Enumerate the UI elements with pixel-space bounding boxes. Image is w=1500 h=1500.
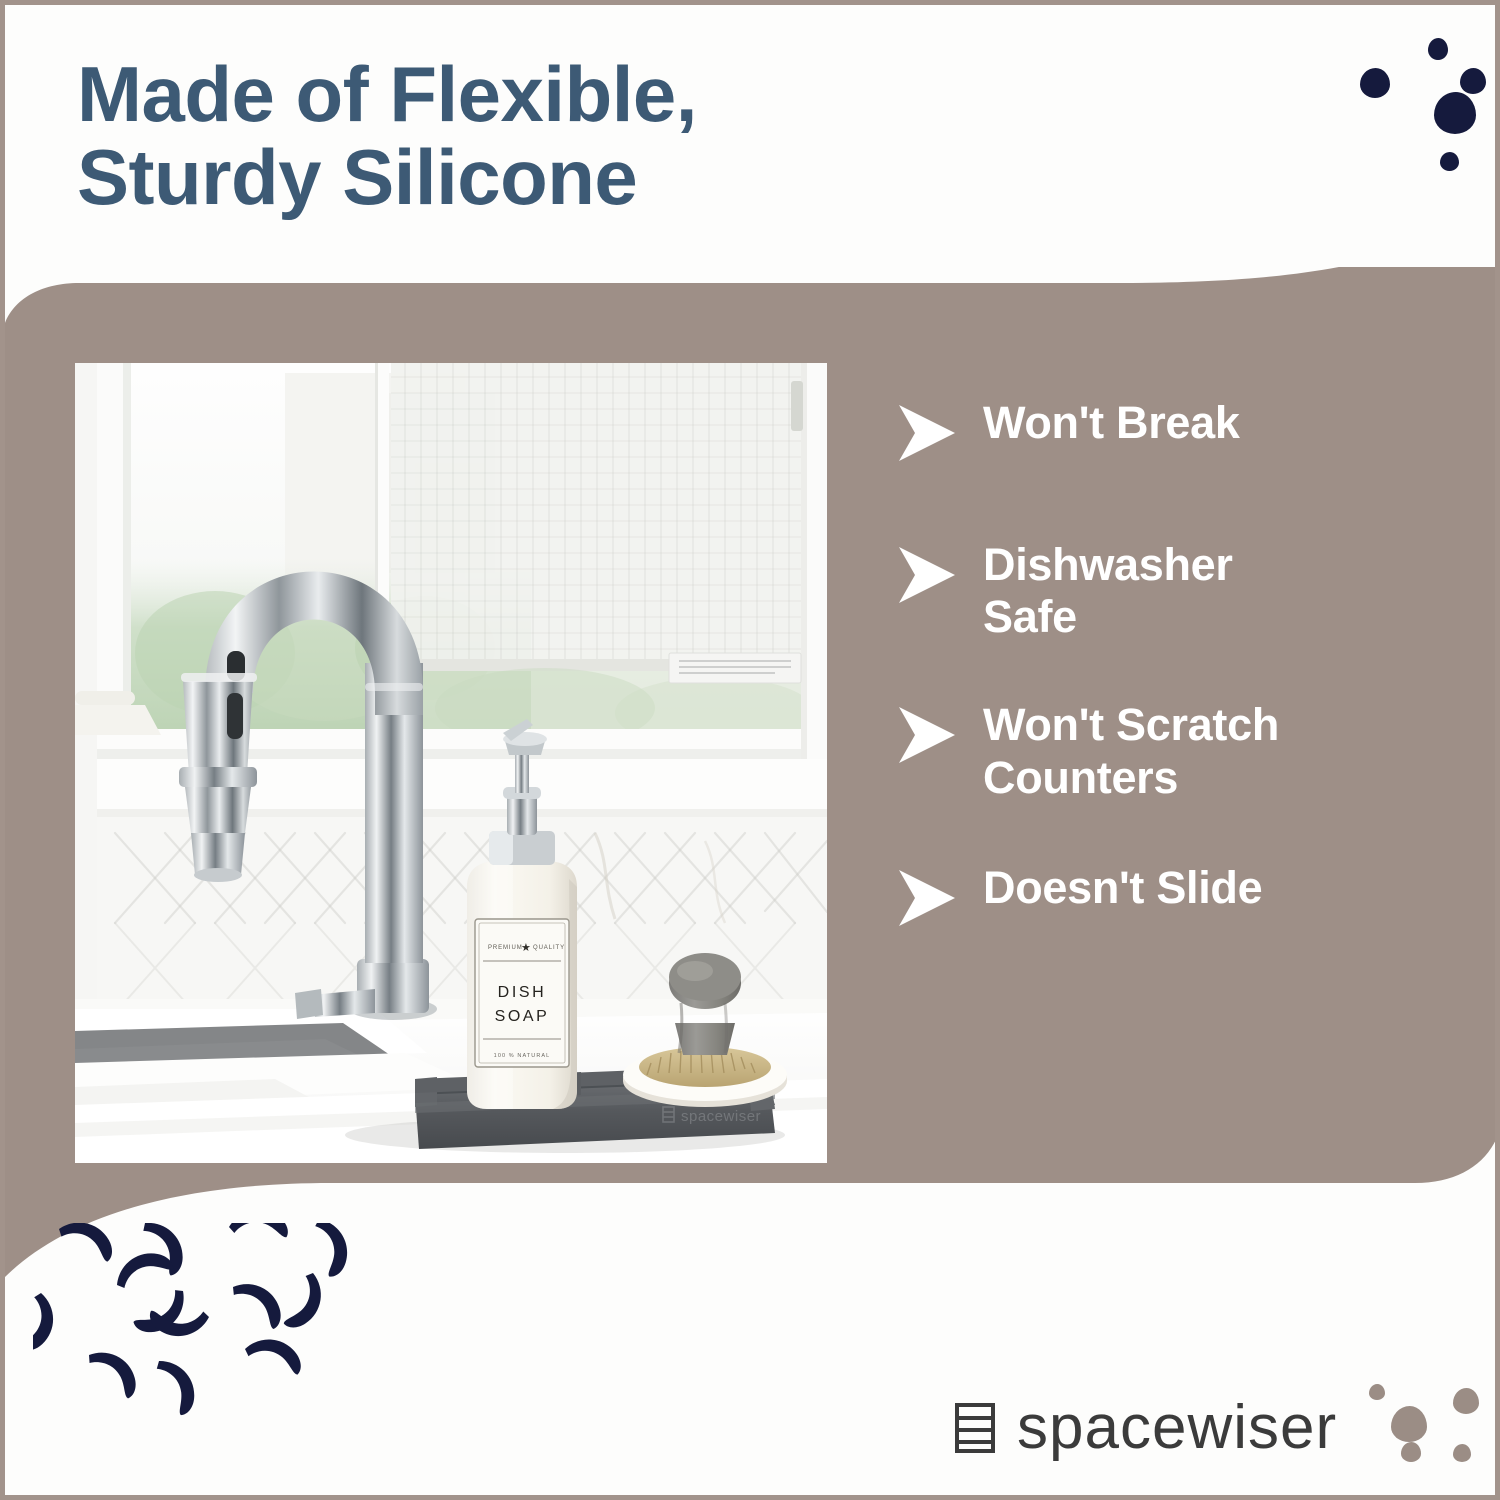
decor-dot [1428,38,1448,60]
feature-label: Won't Scratch Counters [983,699,1279,803]
svg-text:spacewiser: spacewiser [681,1108,761,1125]
feature-label: Won't Break [983,397,1240,449]
svg-text:100 % NATURAL: 100 % NATURAL [494,1053,551,1059]
svg-text:★: ★ [521,942,531,954]
svg-text:SOAP: SOAP [495,1008,550,1025]
feature-item: Doesn't Slide [895,862,1415,928]
svg-text:QUALITY: QUALITY [533,945,565,951]
feature-list: Won't Break Dishwasher Safe Won't Scratc… [895,397,1415,972]
decor-dot [1401,1442,1421,1462]
decor-dot [1453,1388,1479,1414]
decor-dot [1460,68,1486,94]
decor-dot [1434,92,1476,134]
marketing-image-canvas: Made of Flexible, Sturdy Silicone [0,0,1500,1500]
svg-text:DISH: DISH [498,984,547,1001]
brand-logo: spacewiser [953,1397,1337,1459]
feature-item: Won't Break [895,397,1415,463]
decor-dot [1360,68,1390,98]
arrow-right-icon [895,545,957,605]
decor-dot [1369,1384,1385,1400]
svg-text:PREMIUM: PREMIUM [488,945,523,951]
decor-dots-bottom-right [1353,1380,1493,1495]
page-title: Made of Flexible, Sturdy Silicone [77,53,897,220]
arrow-right-icon [895,868,957,928]
arrow-right-icon [895,705,957,765]
decor-dots-top-right [1360,30,1500,195]
feature-label: Doesn't Slide [983,862,1262,914]
decor-dot [1440,152,1459,171]
feature-label: Dishwasher Safe [983,539,1233,643]
shelf-ladder-icon [953,1402,997,1454]
arrow-right-icon [895,403,957,463]
decor-crescent-cluster [33,1223,413,1438]
decor-dot [1453,1444,1471,1462]
decor-dot [1391,1406,1427,1442]
feature-item: Dishwasher Safe [895,539,1415,643]
brand-name: spacewiser [1017,1397,1337,1459]
product-photo: spacewiser [75,363,827,1163]
feature-item: Won't Scratch Counters [895,699,1415,803]
